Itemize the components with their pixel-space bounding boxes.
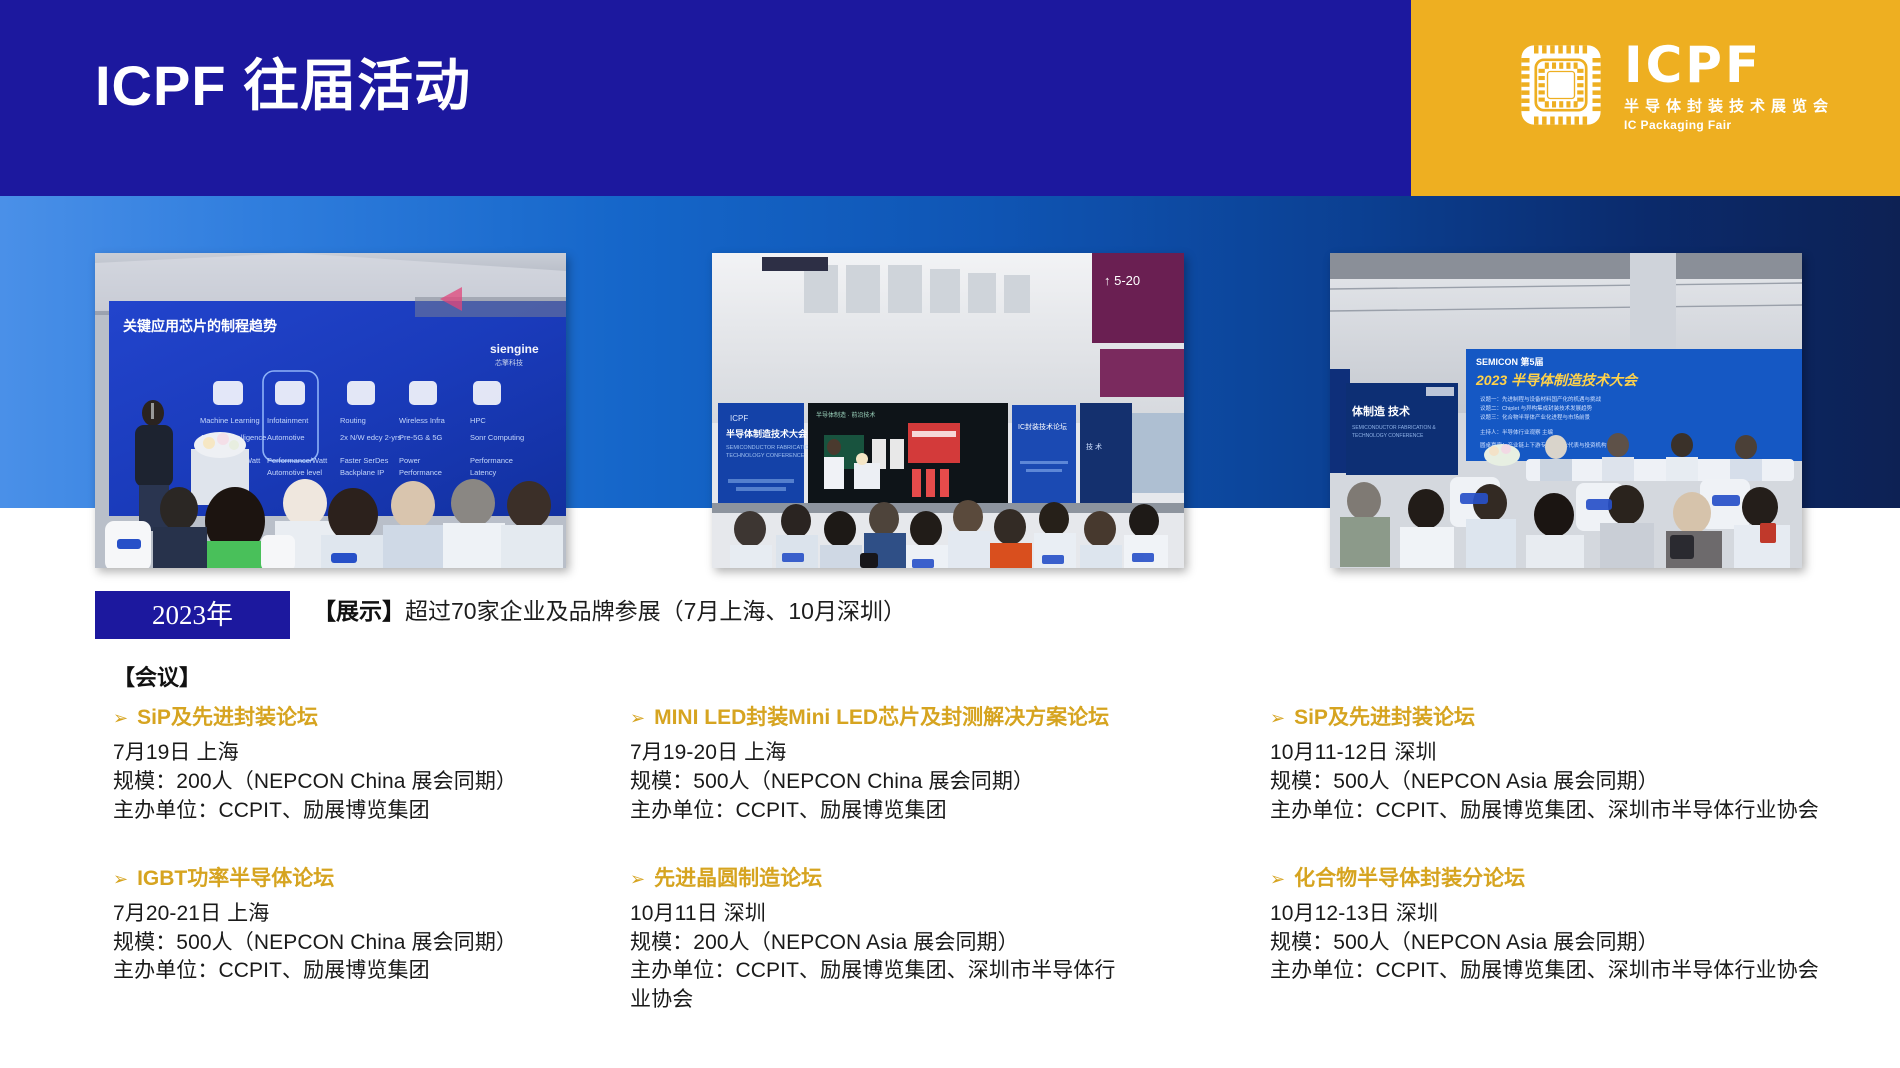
forum-title: ➢ 先进晶圆制造论坛 <box>630 866 1270 892</box>
svg-text:技 术: 技 术 <box>1086 442 1102 451</box>
svg-text:芯擎科技: 芯擎科技 <box>495 358 523 367</box>
svg-text:Performance: Performance <box>470 456 513 465</box>
svg-text:Routing: Routing <box>340 416 366 425</box>
bullet-arrow-icon: ➢ <box>113 707 128 730</box>
forum-title: ➢ MINI LED封装Mini LED芯片及封测解决方案论坛 <box>630 705 1270 731</box>
forum-scale: 规模：500人（NEPCON China 展会同期） <box>113 929 630 958</box>
forum-date: 10月12-13日 深圳 <box>1270 900 1883 929</box>
icpf-logo: ICPF 半导体封装技术展览会 IC Packaging Fair <box>1516 38 1834 131</box>
svg-text:TECHNOLOGY CONFERENCE: TECHNOLOGY CONFERENCE <box>1352 433 1424 439</box>
forum-title: ➢ SiP及先进封装论坛 <box>113 705 630 731</box>
forum-date: 7月19日 上海 <box>113 739 630 768</box>
svg-text:Pre-5G & 5G: Pre-5G & 5G <box>399 433 443 442</box>
forum-scale: 规模：500人（NEPCON China 展会同期） <box>630 768 1270 797</box>
exhibit-tag-label: 【展示】 <box>313 598 405 624</box>
bullet-arrow-icon: ➢ <box>1270 868 1285 891</box>
forum-organizer: 主办单位：CCPIT、励展博览集团、深圳市半导体行业协会 <box>630 957 1130 1015</box>
exhibit-summary-line: 【展示】超过70家企业及品牌参展（7月上海、10月深圳） <box>313 600 906 623</box>
forum-column-2: ➢ MINI LED封装Mini LED芯片及封测解决方案论坛 7月19-20日… <box>630 705 1270 1055</box>
forum-columns: ➢ SiP及先进封装论坛 7月19日 上海 规模：200人（NEPCON Chi… <box>113 705 1883 1055</box>
event-photo-1: 关键应用芯片的制程趋势 Machine Learning Infotainmen… <box>95 253 566 568</box>
forum-item: ➢ MINI LED封装Mini LED芯片及封测解决方案论坛 7月19-20日… <box>630 705 1270 826</box>
svg-text:ICPF: ICPF <box>730 414 748 423</box>
forum-title-text: 先进晶圆制造论坛 <box>654 866 822 892</box>
svg-text:Machine Learning: Machine Learning <box>200 416 260 425</box>
forum-date: 7月19-20日 上海 <box>630 739 1270 768</box>
forum-item: ➢ IGBT功率半导体论坛 7月20-21日 上海 规模：500人（NEPCON… <box>113 866 630 987</box>
forum-column-1: ➢ SiP及先进封装论坛 7月19日 上海 规模：200人（NEPCON Chi… <box>113 705 630 1055</box>
forum-item: ➢ SiP及先进封装论坛 7月19日 上海 规模：200人（NEPCON Chi… <box>113 705 630 826</box>
bullet-arrow-icon: ➢ <box>630 868 645 891</box>
forum-scale: 规模：200人（NEPCON China 展会同期） <box>113 768 630 797</box>
svg-text:体制造 技术: 体制造 技术 <box>1352 404 1410 418</box>
forum-title: ➢ SiP及先进封装论坛 <box>1270 705 1883 731</box>
logo-brand: ICPF <box>1624 40 1834 90</box>
svg-text:半导体制造技术大会: 半导体制造技术大会 <box>726 428 808 439</box>
event-photo-3: 体制造 技术 SEMICONDUCTOR FABRICATION & TECHN… <box>1330 253 1802 568</box>
event-photo-2: ↑ 5-20 ICPF 半导体制造技术大会 SEMICONDUCTOR FABR… <box>712 253 1184 568</box>
svg-text:关键应用芯片的制程趋势: 关键应用芯片的制程趋势 <box>123 318 277 334</box>
svg-text:Latency: Latency <box>470 468 497 477</box>
page-title: ICPF 往届活动 <box>95 58 471 114</box>
forum-item: ➢ 先进晶圆制造论坛 10月11日 深圳 规模：200人（NEPCON Asia… <box>630 866 1270 1015</box>
svg-text:siengine: siengine <box>490 342 539 356</box>
forum-organizer: 主办单位：CCPIT、励展博览集团 <box>113 957 630 986</box>
forum-title-text: IGBT功率半导体论坛 <box>137 866 334 892</box>
svg-text:SEMICONDUCTOR FABRICATION &: SEMICONDUCTOR FABRICATION & <box>1352 425 1436 431</box>
bullet-arrow-icon: ➢ <box>113 868 128 891</box>
svg-text:SEMICON 第5届: SEMICON 第5届 <box>1476 356 1544 367</box>
svg-text:议题三：化合物半导体产业化进程与市场前景: 议题三：化合物半导体产业化进程与市场前景 <box>1480 413 1591 421</box>
forum-date: 7月20-21日 上海 <box>113 900 630 929</box>
svg-text:Sonr Computing: Sonr Computing <box>470 433 524 442</box>
svg-text:↑ 5-20: ↑ 5-20 <box>1104 273 1140 288</box>
svg-text:议题一：先进制程与设备材料国产化的机遇与挑战: 议题一：先进制程与设备材料国产化的机遇与挑战 <box>1480 395 1602 403</box>
svg-text:2x N/W edcy 2-yrs: 2x N/W edcy 2-yrs <box>340 433 402 442</box>
svg-text:Automotive: Automotive <box>267 433 305 442</box>
logo-chinese-name: 半导体封装技术展览会 <box>1624 99 1834 114</box>
forum-title: ➢ 化合物半导体封装分论坛 <box>1270 866 1883 892</box>
forum-title-text: SiP及先进封装论坛 <box>1294 705 1475 731</box>
svg-text:TECHNOLOGY CONFERENCE: TECHNOLOGY CONFERENCE <box>726 453 805 459</box>
forum-organizer: 主办单位：CCPIT、励展博览集团、深圳市半导体行业协会 <box>1270 797 1883 826</box>
svg-text:Faster SerDes: Faster SerDes <box>340 456 389 465</box>
conference-section-label: 【会议】 <box>113 667 201 689</box>
svg-text:HPC: HPC <box>470 416 486 425</box>
svg-text:Infotainment: Infotainment <box>267 416 309 425</box>
svg-text:半导体制造 · 前沿技术: 半导体制造 · 前沿技术 <box>816 411 875 419</box>
forum-title-text: MINI LED封装Mini LED芯片及封测解决方案论坛 <box>654 705 1109 731</box>
svg-text:2023 半导体制造技术大会: 2023 半导体制造技术大会 <box>1475 372 1639 388</box>
svg-text:IC封装技术论坛: IC封装技术论坛 <box>1018 422 1067 431</box>
forum-title-text: SiP及先进封装论坛 <box>137 705 318 731</box>
logo-text-block: ICPF 半导体封装技术展览会 IC Packaging Fair <box>1624 38 1834 131</box>
forum-scale: 规模：500人（NEPCON Asia 展会同期） <box>1270 929 1883 958</box>
forum-organizer: 主办单位：CCPIT、励展博览集团、深圳市半导体行业协会 <box>1270 957 1883 986</box>
forum-date: 10月11-12日 深圳 <box>1270 739 1883 768</box>
svg-text:Performance: Performance <box>399 468 442 477</box>
svg-text:Automotive level: Automotive level <box>267 468 322 477</box>
forum-organizer: 主办单位：CCPIT、励展博览集团 <box>630 797 1270 826</box>
forum-item: ➢ 化合物半导体封装分论坛 10月12-13日 深圳 规模：500人（NEPCO… <box>1270 866 1883 987</box>
forum-date: 10月11日 深圳 <box>630 900 1270 929</box>
svg-text:SEMICONDUCTOR FABRICATION &: SEMICONDUCTOR FABRICATION & <box>726 445 818 451</box>
forum-column-3: ➢ SiP及先进封装论坛 10月11-12日 深圳 规模：500人（NEPCON… <box>1270 705 1883 1055</box>
year-badge: 2023年 <box>95 591 290 639</box>
forum-scale: 规模：200人（NEPCON Asia 展会同期） <box>630 929 1270 958</box>
page-header: ICPF 往届活动 <box>0 0 1900 196</box>
svg-text:Performance/Watt: Performance/Watt <box>267 456 328 465</box>
forum-title-text: 化合物半导体封装分论坛 <box>1294 866 1525 892</box>
svg-text:Backplane IP: Backplane IP <box>340 468 384 477</box>
bullet-arrow-icon: ➢ <box>630 707 645 730</box>
bullet-arrow-icon: ➢ <box>1270 707 1285 730</box>
forum-title: ➢ IGBT功率半导体论坛 <box>113 866 630 892</box>
svg-text:主持人：半导体行业观察 主编: 主持人：半导体行业观察 主编 <box>1480 428 1554 436</box>
svg-text:Power: Power <box>399 456 421 465</box>
svg-text:议题二：Chiplet 与异构集成封装技术发展趋势: 议题二：Chiplet 与异构集成封装技术发展趋势 <box>1480 404 1593 412</box>
svg-text:Wireless Infra: Wireless Infra <box>399 416 446 425</box>
forum-item: ➢ SiP及先进封装论坛 10月11-12日 深圳 规模：500人（NEPCON… <box>1270 705 1883 826</box>
logo-english-name: IC Packaging Fair <box>1624 119 1834 131</box>
forum-scale: 规模：500人（NEPCON Asia 展会同期） <box>1270 768 1883 797</box>
forum-organizer: 主办单位：CCPIT、励展博览集团 <box>113 797 630 826</box>
exhibit-summary-text: 超过70家企业及品牌参展（7月上海、10月深圳） <box>405 598 906 624</box>
chip-icon <box>1516 40 1606 130</box>
